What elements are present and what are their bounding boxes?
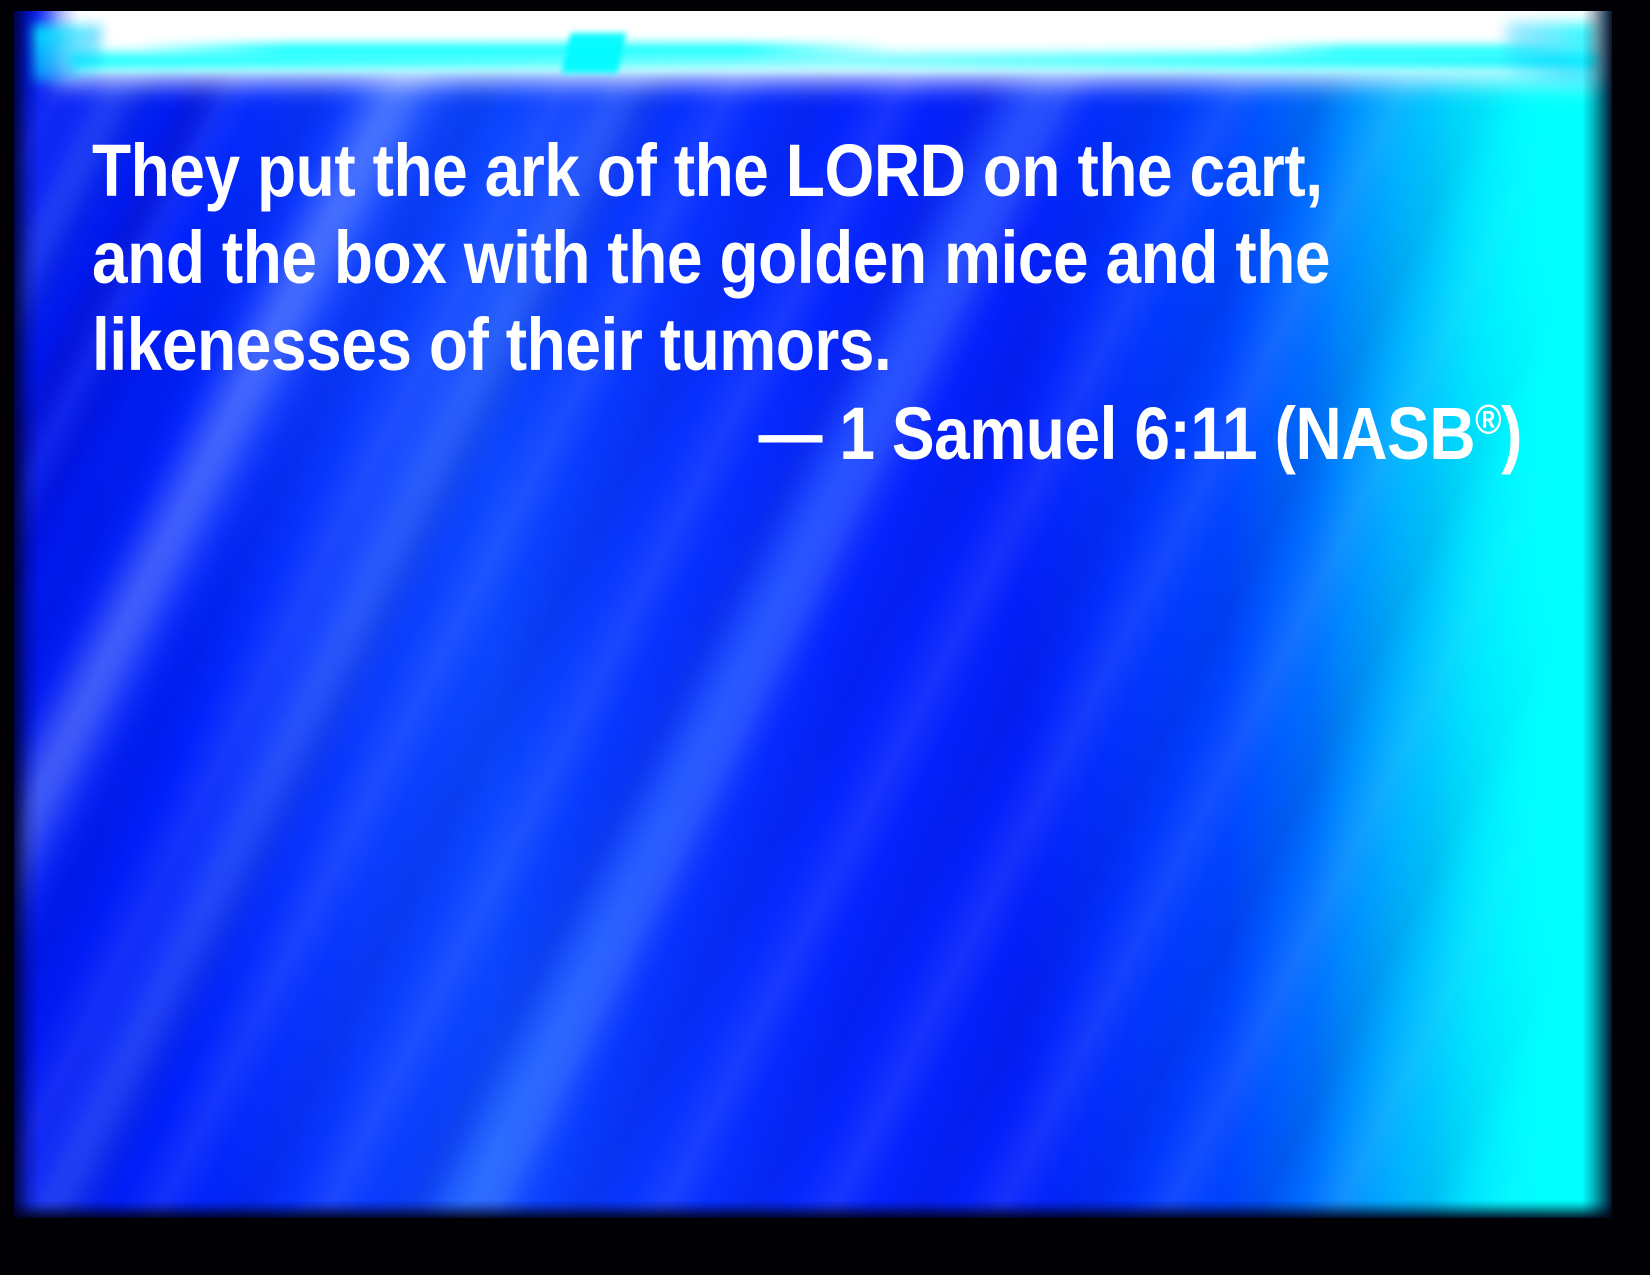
verse-line-3: likenesses of their tumors. [92,301,1329,388]
artwork-right-edge-shadow [1582,11,1612,1218]
registered-trademark-icon: ® [1475,395,1501,442]
banner-left-cap [32,25,102,81]
attribution-close-paren: ) [1501,392,1522,475]
attribution-spacer [822,392,839,475]
slide-frame: They put the ark of the LORD on the cart… [0,0,1650,1275]
top-banner [14,11,1612,121]
slide-artwork: They put the ark of the LORD on the cart… [14,11,1612,1218]
attribution-translation: NASB [1295,392,1475,475]
attribution-spacer-2 [1117,392,1134,475]
verse-attribution: — 1 Samuel 6:11 (NASB®) [285,390,1522,477]
verse-line-1: They put the ark of the LORD on the cart… [92,127,1329,214]
attribution-chapter-verse: 6:11 [1134,392,1257,475]
artwork-bottom-edge-shadow [14,1200,1612,1218]
attribution-open-paren: ( [1275,392,1296,475]
attribution-book: 1 Samuel [839,392,1117,475]
banner-cyan-notch [562,33,627,73]
verse-line-2: and the box with the golden mice and the [92,214,1329,301]
attribution-dash: — [758,392,822,475]
banner-cyan-streak [134,43,894,57]
verse-text-block: They put the ark of the LORD on the cart… [92,127,1522,477]
artwork-left-edge-shadow [14,11,40,1218]
attribution-spacer-3 [1257,392,1274,475]
